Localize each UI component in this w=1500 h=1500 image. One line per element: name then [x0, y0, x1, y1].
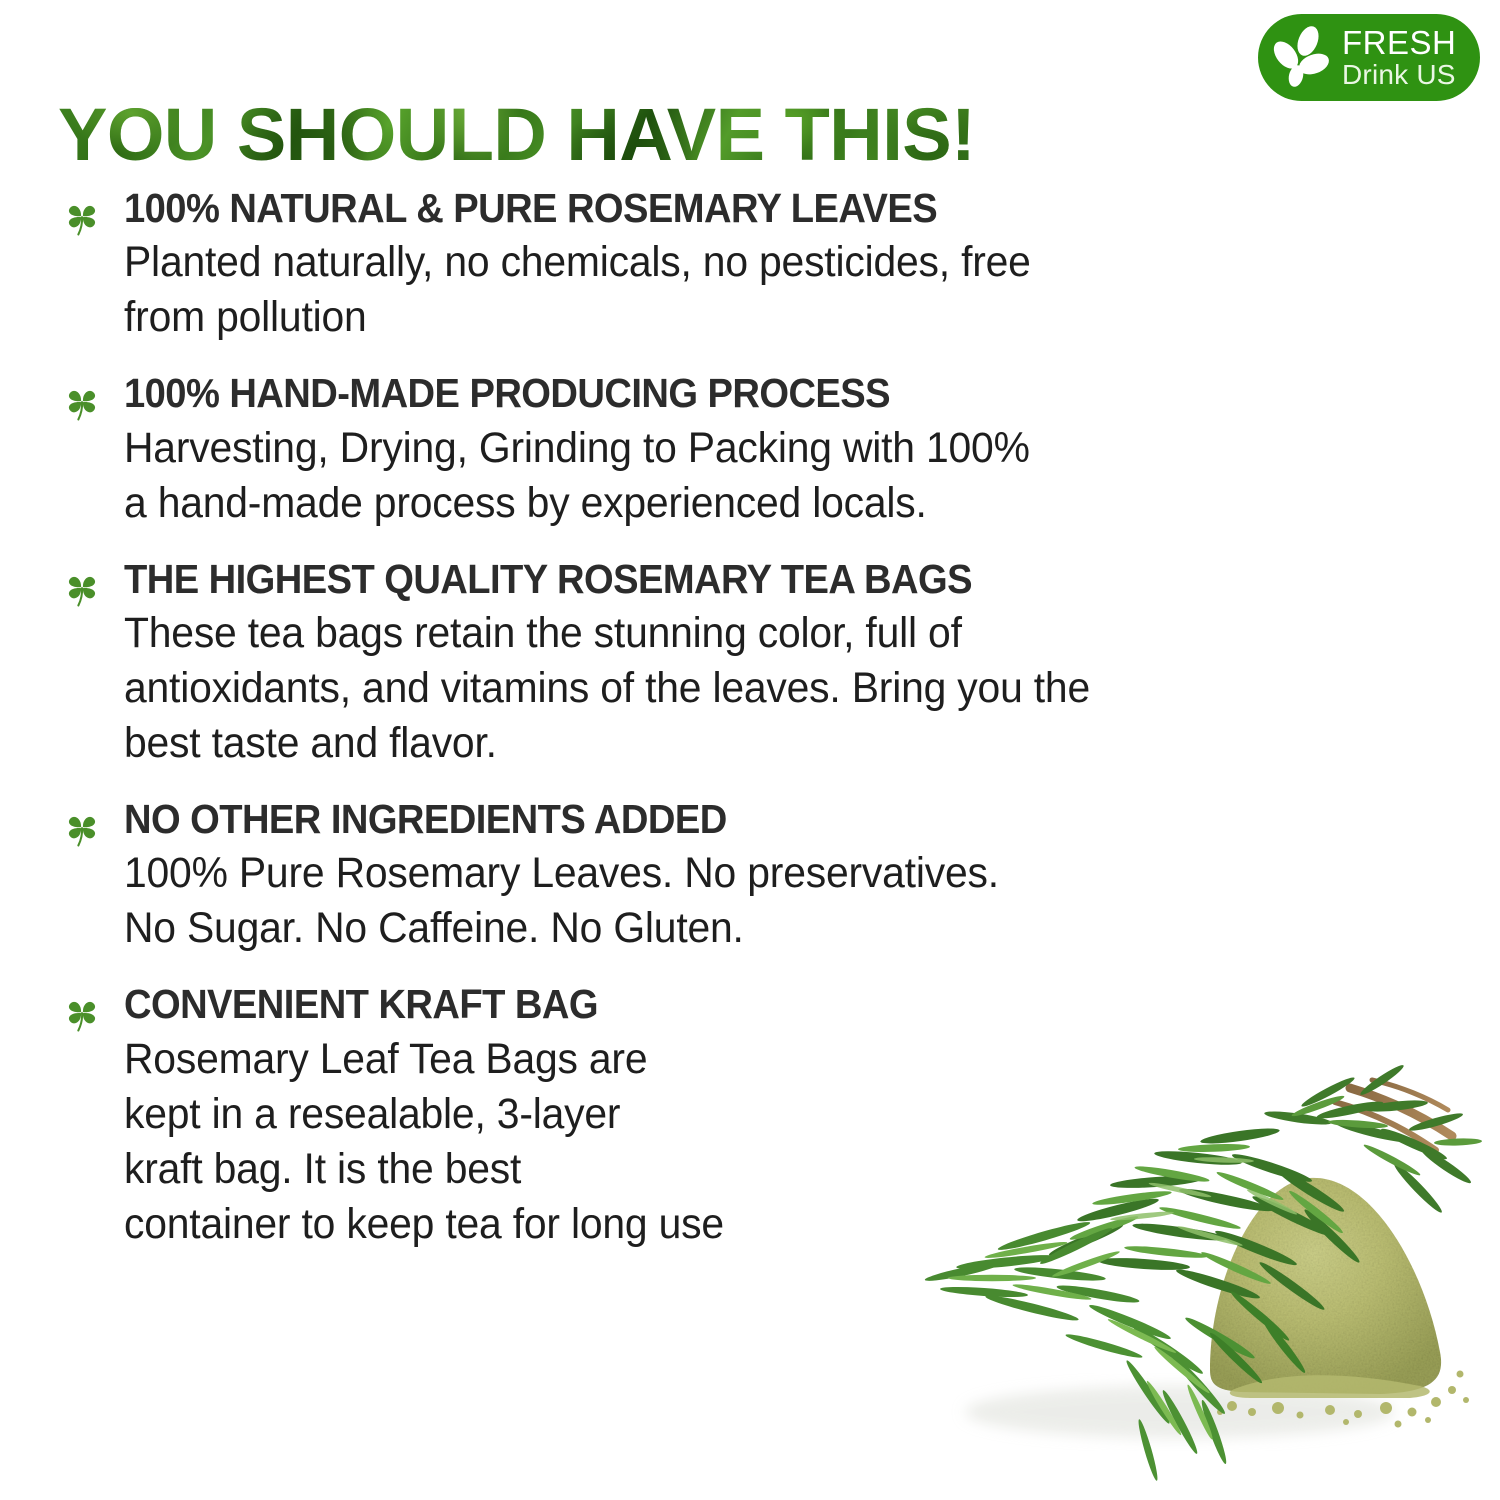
feature-heading: 100% HAND-MADE PRODUCING PROCESS: [124, 371, 1404, 415]
feature-body: 100% Pure Rosemary Leaves. No preservati…: [124, 846, 1431, 956]
feature-item: THE HIGHEST QUALITY ROSEMARY TEA BAGS Th…: [0, 557, 1500, 771]
four-leaf-clover-icon: [60, 196, 104, 240]
feature-item: 100% HAND-MADE PRODUCING PROCESS Harvest…: [0, 371, 1500, 530]
feature-item: 100% NATURAL & PURE ROSEMARY LEAVES Plan…: [0, 186, 1500, 345]
brand-logo-text: FRESH Drink US: [1342, 26, 1456, 89]
four-leaf-clover-icon: [60, 381, 104, 425]
feature-body: Planted naturally, no chemicals, no pest…: [124, 235, 1431, 345]
feature-body: These tea bags retain the stunning color…: [124, 606, 1431, 771]
four-leaf-clover-icon: [60, 807, 104, 851]
brand-logo-badge: FRESH Drink US: [1258, 14, 1480, 101]
feature-heading: 100% NATURAL & PURE ROSEMARY LEAVES: [124, 186, 1404, 230]
feature-body: Harvesting, Drying, Grinding to Packing …: [124, 421, 1431, 531]
four-leaf-clover-icon: [60, 567, 104, 611]
photo-shadow: [965, 1386, 1395, 1438]
feature-item: CONVENIENT KRAFT BAG Rosemary Leaf Tea B…: [0, 982, 1500, 1251]
brand-name-primary: FRESH: [1342, 26, 1456, 59]
feature-heading: CONVENIENT KRAFT BAG: [124, 982, 1404, 1026]
brand-name-secondary: Drink US: [1342, 61, 1456, 89]
feature-heading: NO OTHER INGREDIENTS ADDED: [124, 797, 1404, 841]
feature-list: 100% NATURAL & PURE ROSEMARY LEAVES Plan…: [0, 186, 1500, 1278]
feature-body: Rosemary Leaf Tea Bags are kept in a res…: [124, 1032, 884, 1252]
feature-item: NO OTHER INGREDIENTS ADDED 100% Pure Ros…: [0, 797, 1500, 956]
four-leaf-clover-icon: [60, 992, 104, 1036]
feature-heading: THE HIGHEST QUALITY ROSEMARY TEA BAGS: [124, 557, 1404, 601]
page-title: YOU SHOULD HAVE THIS!: [58, 98, 975, 172]
leaf-cluster-icon: [1266, 21, 1340, 95]
